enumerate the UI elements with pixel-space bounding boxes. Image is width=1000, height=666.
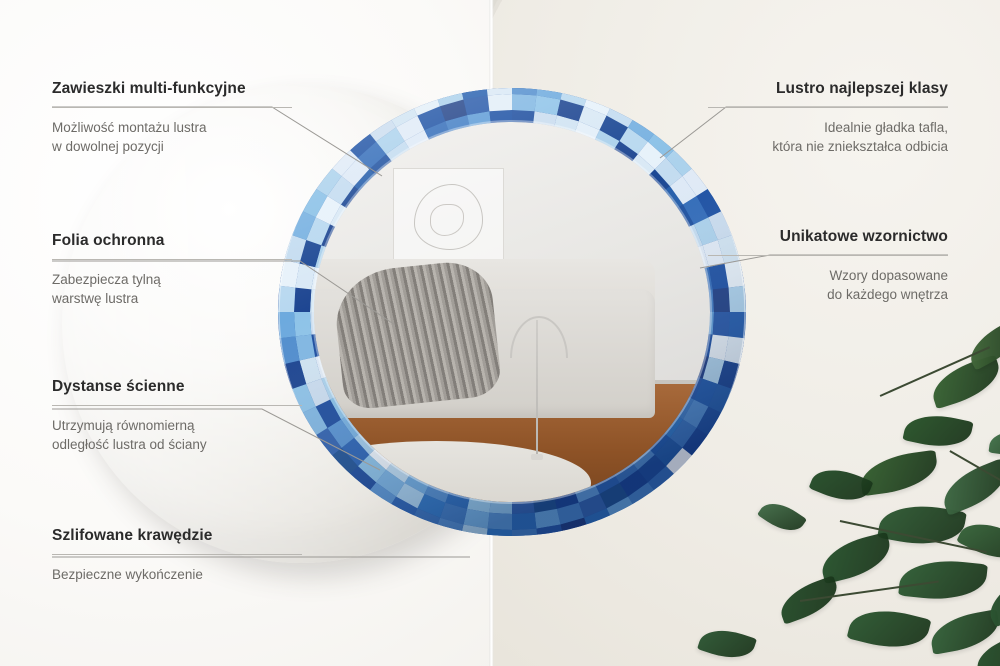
callout-wzornictwo[interactable]: Unikatowe wzornictwo Wzory dopasowane do…: [708, 228, 948, 304]
callout-zawieszki-rule: [52, 107, 292, 108]
callout-wzornictwo-body: Wzory dopasowane do każdego wnętrza: [708, 266, 948, 304]
callout-lustro-klasy-rule: [708, 107, 948, 108]
callout-folia[interactable]: Folia ochronna Zabezpiecza tylną warstwę…: [52, 232, 292, 308]
callout-dystanse-title: Dystanse ścienne: [52, 378, 302, 396]
callout-szlifowane[interactable]: Szlifowane krawędzie Bezpieczne wykończe…: [52, 527, 302, 584]
callout-dystanse-body: Utrzymują równomierną odległość lustra o…: [52, 416, 302, 454]
callout-szlifowane-body: Bezpieczne wykończenie: [52, 565, 302, 584]
callout-wzornictwo-title: Unikatowe wzornictwo: [708, 228, 948, 246]
callout-lustro-klasy-title: Lustro najlepszej klasy: [708, 80, 948, 98]
callout-zawieszki-title: Zawieszki multi-funkcyjne: [52, 80, 292, 98]
callout-szlifowane-title: Szlifowane krawędzie: [52, 527, 302, 545]
callout-folia-rule: [52, 259, 292, 260]
callout-lustro-klasy-body: Idealnie gładka tafla, która nie znieksz…: [708, 118, 948, 156]
callout-dystanse[interactable]: Dystanse ścienne Utrzymują równomierną o…: [52, 378, 302, 454]
callout-folia-body: Zabezpiecza tylną warstwę lustra: [52, 270, 292, 308]
callout-zawieszki-body: Możliwość montażu lustra w dowolnej pozy…: [52, 118, 292, 156]
callout-zawieszki[interactable]: Zawieszki multi-funkcyjne Możliwość mont…: [52, 80, 292, 156]
callout-szlifowane-rule: [52, 554, 302, 555]
infographic-stage: Zawieszki multi-funkcyjne Możliwość mont…: [0, 0, 1000, 666]
callout-folia-title: Folia ochronna: [52, 232, 292, 250]
callout-lustro-klasy[interactable]: Lustro najlepszej klasy Idealnie gładka …: [708, 80, 948, 156]
callout-wzornictwo-rule: [708, 255, 948, 256]
callout-dystanse-rule: [52, 405, 302, 406]
